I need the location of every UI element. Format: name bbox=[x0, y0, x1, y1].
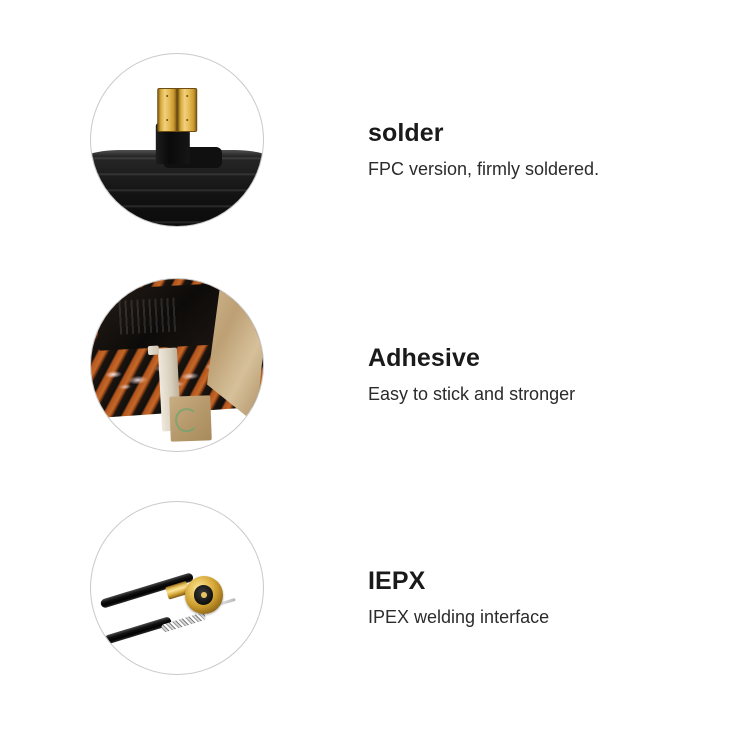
photo-content bbox=[91, 502, 263, 674]
feature-media bbox=[0, 488, 360, 708]
adhesive-backing-photo bbox=[90, 278, 264, 452]
feature-text: solder FPC version, firmly soldered. bbox=[360, 120, 750, 180]
photo-content bbox=[91, 54, 263, 226]
gold-pad-left bbox=[158, 89, 176, 132]
adhesive-pad bbox=[169, 395, 212, 441]
feature-list-page: solder FPC version, firmly soldered. Adh… bbox=[0, 0, 750, 750]
feature-text: Adhesive Easy to stick and stronger bbox=[360, 345, 750, 405]
braided-shield bbox=[160, 612, 205, 633]
ipex-connector-photo bbox=[90, 501, 264, 675]
feature-description: IPEX welding interface bbox=[368, 606, 750, 629]
gold-solder-pads bbox=[157, 88, 197, 133]
photo-content bbox=[91, 279, 263, 451]
feature-media bbox=[0, 265, 360, 485]
ipex-connector-head bbox=[185, 576, 223, 614]
feature-media bbox=[0, 40, 360, 260]
fpc-solder-pads-photo bbox=[90, 53, 264, 227]
feature-row: Adhesive Easy to stick and stronger bbox=[0, 265, 750, 485]
feature-description: FPC version, firmly soldered. bbox=[368, 158, 750, 181]
feature-row: solder FPC version, firmly soldered. bbox=[0, 40, 750, 260]
gold-pad-right bbox=[178, 89, 196, 132]
feature-text: IEPX IPEX welding interface bbox=[360, 568, 750, 628]
feature-title: Adhesive bbox=[368, 345, 750, 373]
feature-title: solder bbox=[368, 120, 750, 148]
black-ground-plane bbox=[96, 283, 223, 350]
feature-row: IEPX IPEX welding interface bbox=[0, 488, 750, 708]
feature-description: Easy to stick and stronger bbox=[368, 383, 750, 406]
feature-title: IEPX bbox=[368, 568, 750, 596]
